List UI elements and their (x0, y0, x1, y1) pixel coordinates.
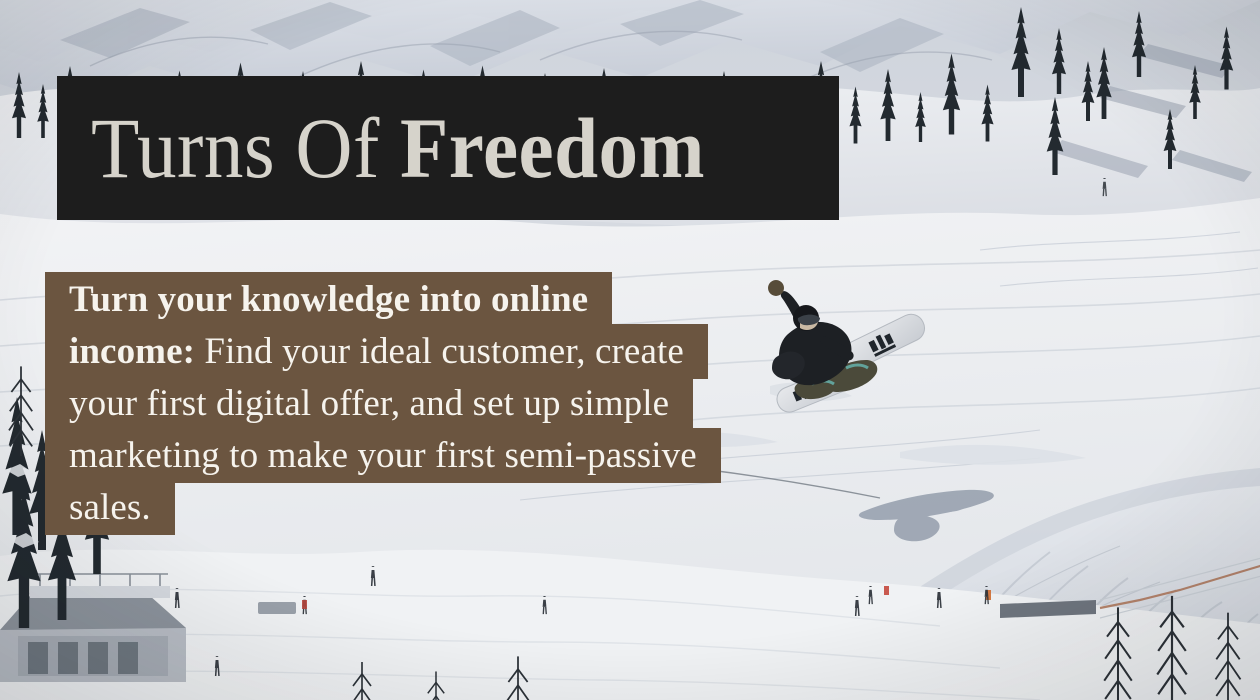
slide-canvas: Turns Of Freedom Turn your knowledge int… (0, 0, 1260, 700)
page-title-bold: Freedom (400, 100, 705, 196)
body-block: Turn your knowledge into online income: … (57, 274, 697, 534)
page-title-light: Turns Of (91, 100, 400, 196)
body-paragraph: Turn your knowledge into online income: … (57, 274, 697, 534)
page-title: Turns Of Freedom (91, 105, 705, 191)
headline-block: Turns Of Freedom (57, 76, 839, 220)
